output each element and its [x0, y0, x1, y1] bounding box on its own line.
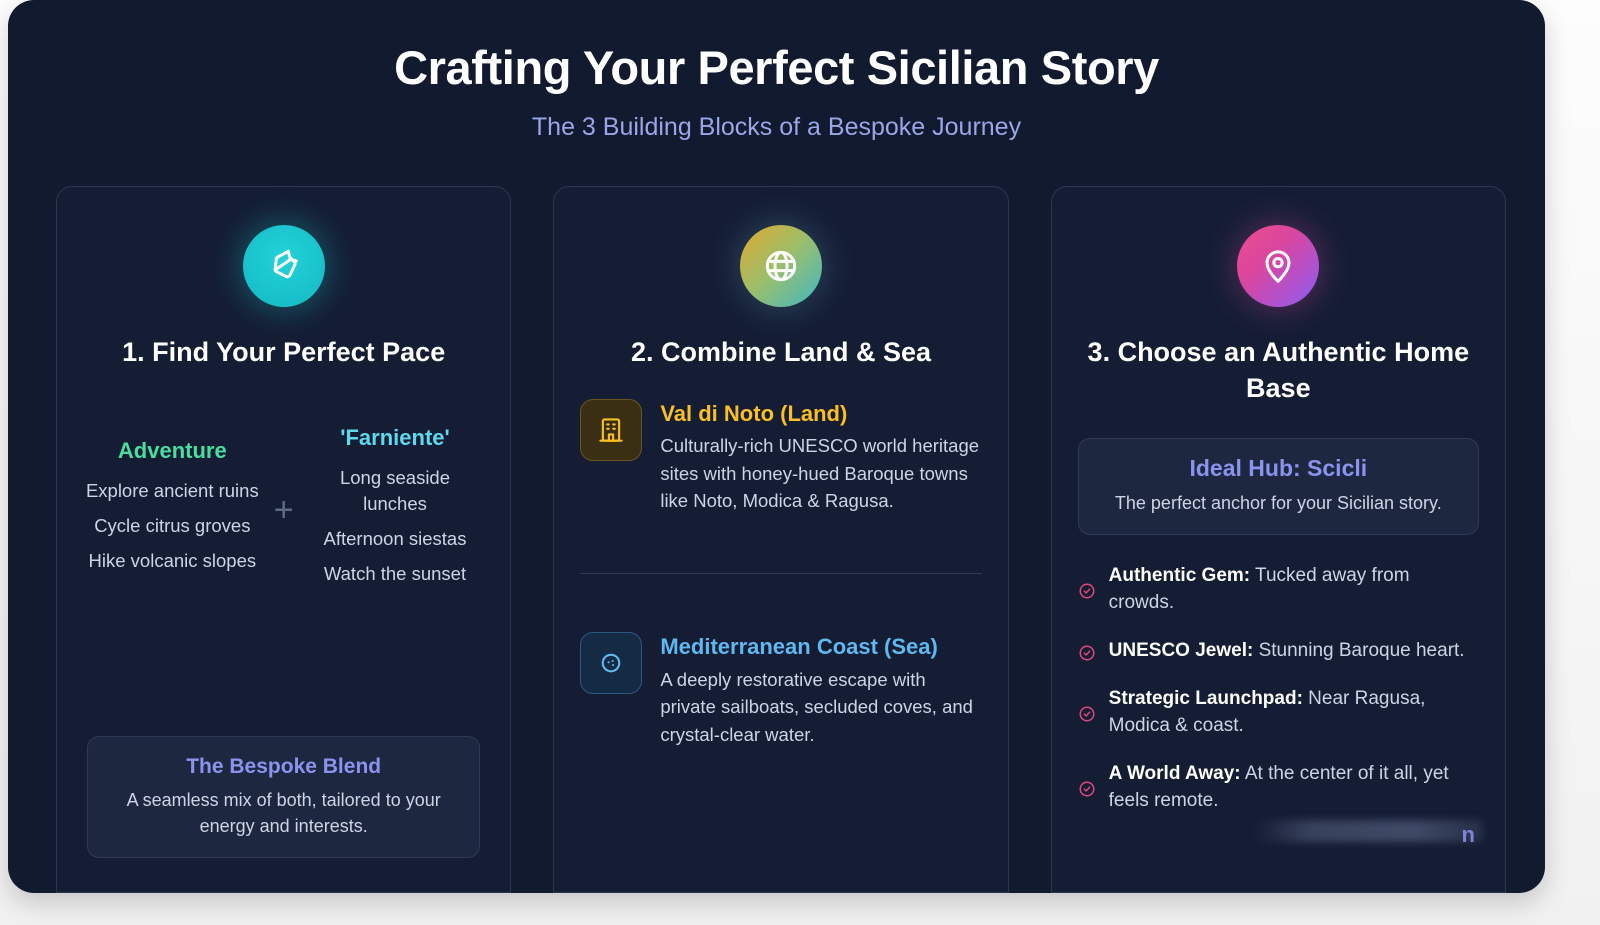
- pace-item: Long seaside lunches: [306, 465, 485, 519]
- bespoke-blend-callout: The Bespoke Blend A seamless mix of both…: [87, 736, 480, 858]
- plus-separator-icon: +: [262, 493, 306, 527]
- check-circle-icon: [1078, 644, 1096, 662]
- bespoke-blend-text: A seamless mix of both, tailored to your…: [110, 787, 457, 839]
- list-item: UNESCO Jewel: Stunning Baroque heart.: [1078, 638, 1479, 665]
- card-1-title: 1. Find Your Perfect Pace: [83, 335, 484, 371]
- watermark-fragment: n: [1462, 822, 1475, 848]
- card-combine-land-sea[interactable]: 2. Combine Land & Sea Val di Noto (Land)…: [553, 186, 1008, 893]
- pace-item: Afternoon siestas: [306, 526, 485, 553]
- bullet-detail: Stunning Baroque heart.: [1253, 640, 1464, 661]
- page-header: Crafting Your Perfect Sicilian Story The…: [8, 0, 1545, 142]
- page-title: Crafting Your Perfect Sicilian Story: [8, 40, 1545, 95]
- bullet-text: Strategic Launchpad: Near Ragusa, Modica…: [1109, 686, 1479, 740]
- feature-mediterranean-coast-desc: A deeply restorative escape with private…: [660, 666, 981, 749]
- feature-val-di-noto-desc: Culturally-rich UNESCO world heritage si…: [660, 432, 981, 515]
- bullet-label: UNESCO Jewel:: [1109, 640, 1254, 661]
- card-3-title: 3. Choose an Authentic Home Base: [1078, 335, 1479, 406]
- ideal-hub-callout: Ideal Hub: Scicli The perfect anchor for…: [1078, 438, 1479, 535]
- map-pin-icon: [1237, 225, 1319, 307]
- pace-heading-adventure: Adventure: [83, 438, 262, 464]
- check-circle-icon: [1078, 780, 1096, 798]
- building-icon: [580, 399, 642, 461]
- pace-column-adventure: Adventure Explore ancient ruins Cycle ci…: [83, 438, 262, 582]
- main-panel: Crafting Your Perfect Sicilian Story The…: [8, 0, 1545, 893]
- feature-mediterranean-coast: Mediterranean Coast (Sea) A deeply resto…: [580, 632, 981, 749]
- blurred-watermark: [1253, 820, 1483, 842]
- globe-icon: [740, 225, 822, 307]
- home-base-bullet-list: Authentic Gem: Tucked away from crowds. …: [1078, 563, 1479, 815]
- list-item: A World Away: At the center of it all, y…: [1078, 761, 1479, 815]
- pace-heading-farniente: 'Farniente': [306, 425, 485, 451]
- bespoke-blend-title: The Bespoke Blend: [110, 755, 457, 779]
- bullet-text: UNESCO Jewel: Stunning Baroque heart.: [1109, 638, 1465, 665]
- page-subtitle: The 3 Building Blocks of a Bespoke Journ…: [8, 113, 1545, 142]
- pace-item: Hike volcanic slopes: [83, 548, 262, 575]
- sailboat-icon: [580, 632, 642, 694]
- bullet-label: Strategic Launchpad:: [1109, 688, 1303, 709]
- cards-container: 1. Find Your Perfect Pace Adventure Expl…: [56, 186, 1506, 893]
- check-circle-icon: [1078, 705, 1096, 723]
- bullet-text: Authentic Gem: Tucked away from crowds.: [1109, 563, 1479, 617]
- bullet-label: Authentic Gem:: [1109, 565, 1250, 586]
- pace-grid: Adventure Explore ancient ruins Cycle ci…: [83, 425, 484, 596]
- card-find-your-pace[interactable]: 1. Find Your Perfect Pace Adventure Expl…: [56, 186, 511, 893]
- ideal-hub-text: The perfect anchor for your Sicilian sto…: [1099, 490, 1458, 516]
- backpack-icon: [243, 225, 325, 307]
- bullet-label: A World Away:: [1109, 763, 1241, 784]
- feature-mediterranean-coast-body: Mediterranean Coast (Sea) A deeply resto…: [660, 632, 981, 749]
- feature-divider: [580, 573, 981, 574]
- list-item: Authentic Gem: Tucked away from crowds.: [1078, 563, 1479, 617]
- feature-mediterranean-coast-title: Mediterranean Coast (Sea): [660, 632, 981, 662]
- list-item: Strategic Launchpad: Near Ragusa, Modica…: [1078, 686, 1479, 740]
- feature-val-di-noto-body: Val di Noto (Land) Culturally-rich UNESC…: [660, 399, 981, 516]
- pace-item: Explore ancient ruins: [83, 478, 262, 505]
- feature-val-di-noto-title: Val di Noto (Land): [660, 399, 981, 429]
- card-2-icon-wrap: [580, 225, 981, 307]
- bullet-text: A World Away: At the center of it all, y…: [1109, 761, 1479, 815]
- card-2-title: 2. Combine Land & Sea: [580, 335, 981, 371]
- pace-item: Watch the sunset: [306, 561, 485, 588]
- pace-column-farniente: 'Farniente' Long seaside lunches Afterno…: [306, 425, 485, 596]
- card-authentic-home-base[interactable]: 3. Choose an Authentic Home Base Ideal H…: [1051, 186, 1506, 893]
- feature-val-di-noto: Val di Noto (Land) Culturally-rich UNESC…: [580, 399, 981, 516]
- card-1-icon-wrap: [83, 225, 484, 307]
- ideal-hub-title: Ideal Hub: Scicli: [1099, 455, 1458, 482]
- check-circle-icon: [1078, 582, 1096, 600]
- card-3-icon-wrap: [1078, 225, 1479, 307]
- pace-item: Cycle citrus groves: [83, 513, 262, 540]
